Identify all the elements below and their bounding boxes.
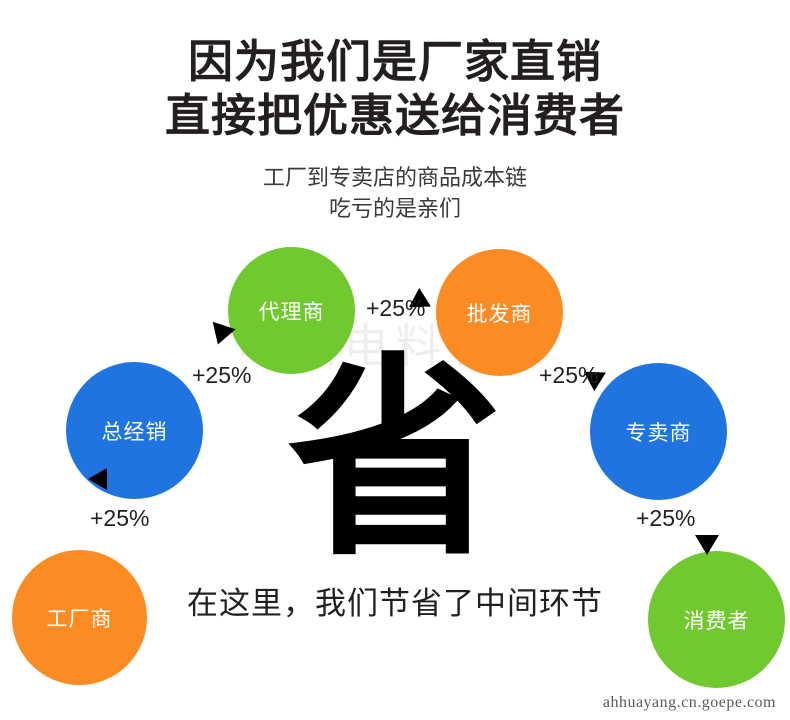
chain-node-wholesaler: 批发商 [436, 249, 563, 376]
arrow-left-icon [88, 468, 107, 490]
chain-node-wholesaler-label: 批发商 [467, 298, 533, 328]
infographic-poster: 因为我们是厂家直销 直接把优惠送给消费者 工厂到专卖店的商品成本链 吃亏的是亲们… [0, 0, 790, 720]
footer-watermark-url: ahhuayang.cn.goepe.com [603, 694, 776, 712]
markup-label-exclusive-to-consumer: +25% [636, 505, 695, 532]
subtitle-line-1: 工厂到专卖店的商品成本链 [0, 163, 790, 193]
bottom-caption: 在这里，我们节省了中间环节 [0, 578, 790, 623]
arrow-down-consumer-icon [695, 535, 719, 555]
chain-node-general-distributor-label: 总经销 [102, 416, 168, 446]
chain-node-general-distributor: 总经销 [66, 362, 203, 499]
subtitle-line-2: 吃亏的是亲们 [0, 194, 790, 224]
chain-node-agent-label: 代理商 [259, 296, 325, 326]
markup-label-general-to-agent: +25% [192, 362, 251, 389]
chain-node-exclusive-dealer: 专卖商 [590, 363, 727, 500]
chain-node-agent: 代理商 [228, 247, 355, 374]
center-savings-glyph: 省 [285, 352, 505, 567]
markup-label-wholesale-to-exclusive: +25% [539, 362, 598, 389]
headline-line-2: 直接把优惠送给消费者 [0, 90, 790, 142]
headline-line-1: 因为我们是厂家直销 [0, 36, 790, 88]
chain-node-exclusive-dealer-label: 专卖商 [626, 417, 692, 447]
markup-label-agent-to-wholesale: +25% [366, 295, 425, 322]
markup-label-factory-to-general: +25% [90, 505, 149, 532]
